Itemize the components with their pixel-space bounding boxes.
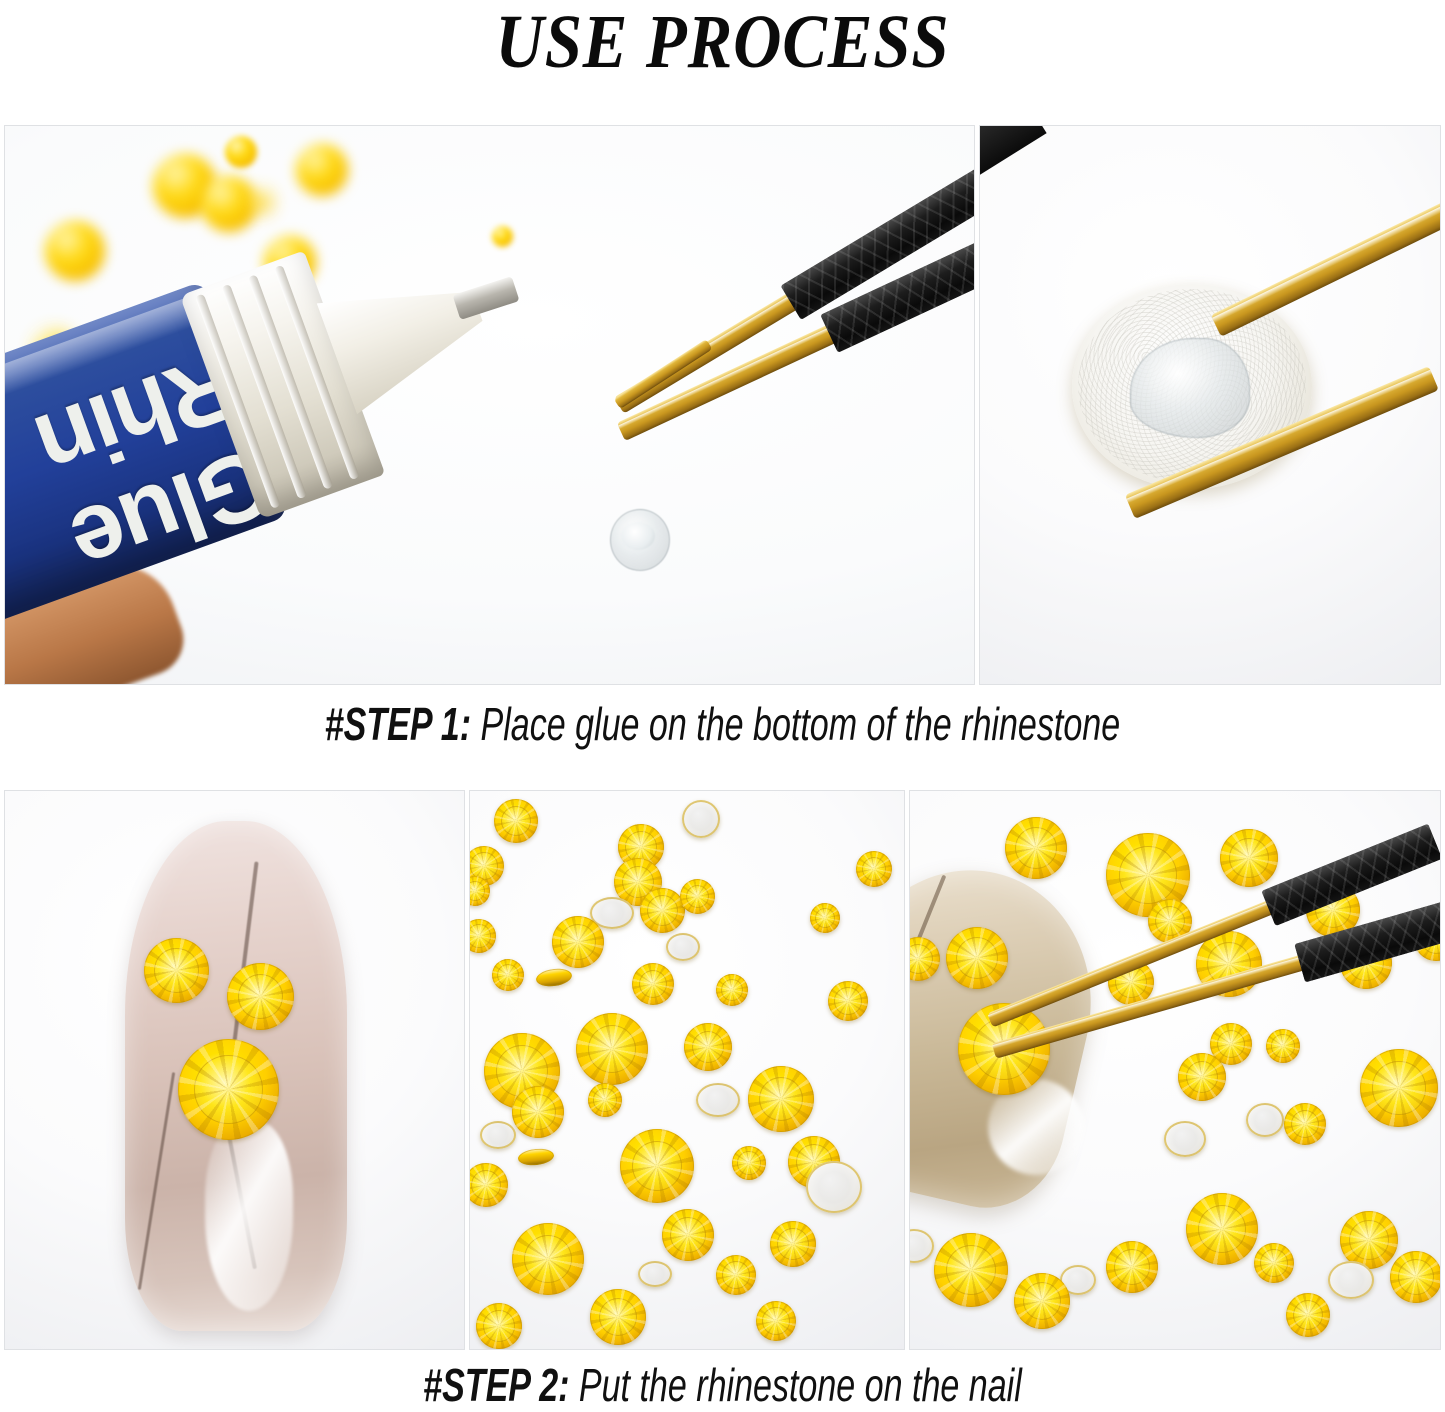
rhinestone bbox=[716, 974, 748, 1006]
step-1-tag: #STEP 1: bbox=[325, 698, 471, 750]
rhinestone bbox=[1220, 829, 1278, 887]
rhinestone-on-nail bbox=[227, 963, 294, 1030]
rhinestone bbox=[590, 1289, 646, 1345]
rhinestone bbox=[588, 1083, 622, 1117]
rhinestone bbox=[640, 888, 685, 933]
rhinestone bbox=[1005, 817, 1067, 879]
rhinestone bbox=[946, 927, 1008, 989]
rhinestone bbox=[1390, 1251, 1441, 1303]
bokeh-bead bbox=[492, 226, 513, 247]
rhinestone bbox=[1254, 1243, 1294, 1283]
rhinestone bbox=[934, 1233, 1008, 1307]
panel-scattered-rhinestones bbox=[469, 790, 905, 1350]
rhinestone bbox=[512, 1086, 564, 1138]
rhinestone bbox=[1266, 1029, 1300, 1063]
panel-glue-bottle-and-tweezers: Glue Rhin bbox=[4, 125, 975, 685]
rhinestone bbox=[476, 1303, 522, 1349]
rhinestone bbox=[1286, 1293, 1330, 1337]
rhinestone bbox=[1106, 1241, 1158, 1293]
rhinestone bbox=[1178, 1053, 1226, 1101]
rhinestone bbox=[662, 1209, 714, 1261]
bokeh-bead bbox=[45, 221, 105, 281]
rhinestone bbox=[1014, 1273, 1070, 1329]
rhinestone bbox=[1186, 1193, 1258, 1265]
rhinestone-flat-back bbox=[1246, 1103, 1284, 1137]
panel-applying-rhinestone bbox=[909, 790, 1441, 1350]
panel-finished-nail bbox=[4, 790, 465, 1350]
rhinestone bbox=[632, 963, 674, 1005]
bokeh-bead bbox=[225, 136, 257, 168]
rhinestone bbox=[576, 1013, 648, 1085]
rhinestone-flat-back bbox=[480, 1121, 516, 1149]
rhinestone bbox=[620, 1129, 694, 1203]
rhinestone bbox=[1284, 1103, 1326, 1145]
nail-gloss-highlight bbox=[205, 1121, 293, 1311]
rhinestone-flat-back bbox=[1164, 1121, 1206, 1157]
step-2-caption: #STEP 2: Put the rhinestone on the nail bbox=[0, 1358, 1445, 1412]
glue-smear-on-rhinestone bbox=[1130, 338, 1250, 438]
rhinestone bbox=[810, 903, 840, 933]
rhinestone bbox=[684, 1023, 732, 1071]
rhinestone bbox=[1360, 1049, 1438, 1127]
step-2-tag: #STEP 2: bbox=[423, 1359, 569, 1411]
rhinestone bbox=[716, 1255, 756, 1295]
rhinestone bbox=[494, 799, 538, 843]
step-2-photo-row bbox=[4, 790, 1441, 1350]
rhinestone bbox=[732, 1146, 766, 1180]
rhinestone-on-nail bbox=[178, 1039, 279, 1140]
bokeh-bead bbox=[250, 191, 272, 213]
rhinestone-flat-back bbox=[682, 800, 720, 838]
rhinestone-flat-back bbox=[1328, 1261, 1374, 1299]
bokeh-bead bbox=[296, 144, 348, 196]
step-2-text: Put the rhinestone on the nail bbox=[569, 1359, 1021, 1411]
rhinestone bbox=[770, 1221, 816, 1267]
rhinestone bbox=[756, 1301, 796, 1341]
rhinestone-flat-back bbox=[666, 933, 700, 961]
rhinestone bbox=[828, 981, 868, 1021]
step-1-text: Place glue on the bottom of the rhinesto… bbox=[471, 698, 1120, 750]
rhinestone bbox=[680, 879, 715, 914]
rhinestone-on-nail bbox=[144, 938, 209, 1003]
panel-rhinestone-with-glue bbox=[979, 125, 1441, 685]
nail-crack bbox=[138, 1072, 175, 1290]
page-title: USE PROCESS bbox=[87, 2, 1359, 82]
glue-highlight bbox=[621, 522, 655, 550]
bokeh-bead bbox=[201, 176, 257, 232]
step-1-caption: #STEP 1: Place glue on the bottom of the… bbox=[0, 697, 1445, 751]
rhinestone bbox=[512, 1223, 584, 1295]
rhinestone bbox=[856, 851, 892, 887]
rhinestone bbox=[748, 1066, 814, 1132]
rhinestone-flat-back bbox=[638, 1261, 672, 1287]
rhinestone bbox=[552, 916, 604, 968]
step-1-photo-row: Glue Rhin bbox=[4, 125, 1441, 685]
rhinestone-flat-back bbox=[696, 1083, 740, 1117]
rhinestone-flat-back bbox=[806, 1161, 862, 1213]
rhinestone bbox=[492, 959, 524, 991]
use-process-infographic: USE PROCESS bbox=[0, 0, 1445, 1412]
